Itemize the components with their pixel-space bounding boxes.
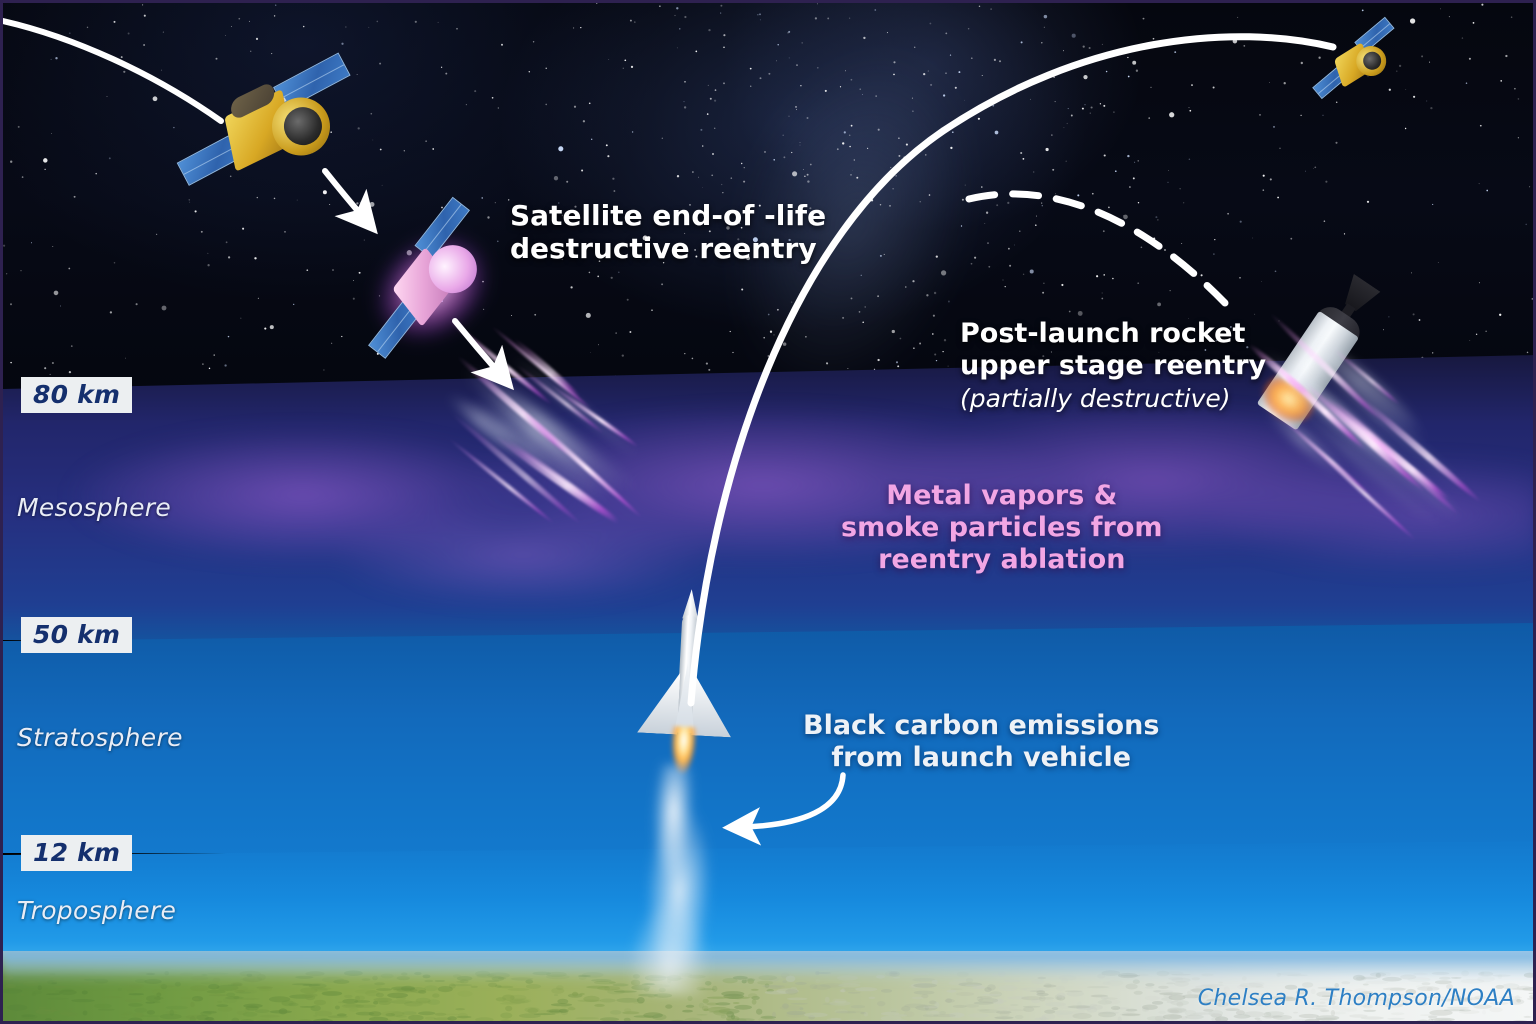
callout-metal-vapors: Metal vapors & smoke particles from reen… xyxy=(841,480,1163,576)
infographic-canvas: 80 km Mesosphere 50 km Stratosphere 12 k… xyxy=(0,0,1536,1024)
satellite-debris-streaks xyxy=(423,353,723,623)
upper-stage-debris-streaks xyxy=(1233,363,1533,593)
layer-troposphere xyxy=(3,841,1536,966)
altitude-marker-12km: 12 km xyxy=(21,835,132,871)
launch-vehicle xyxy=(655,614,720,745)
layer-label-stratosphere: Stratosphere xyxy=(17,723,183,752)
satellite-burning xyxy=(344,204,517,371)
horizon-haze xyxy=(3,951,1536,985)
altitude-marker-80km: 80 km xyxy=(21,377,132,413)
image-credit: Chelsea R. Thompson/NOAA xyxy=(1198,986,1515,1011)
callout-upper-stage: Post-launch rocket upper stage reentry (… xyxy=(960,286,1266,445)
exhaust-plume xyxy=(624,762,732,997)
callout-upper-stage-sub: (partially destructive) xyxy=(960,384,1266,414)
layer-label-troposphere: Troposphere xyxy=(17,896,176,925)
callout-black-carbon: Black carbon emissions from launch vehic… xyxy=(803,710,1159,774)
callout-upper-stage-main: Post-launch rocket upper stage reentry xyxy=(960,318,1266,381)
layer-label-mesosphere: Mesosphere xyxy=(17,493,171,522)
layer-stratosphere xyxy=(3,623,1536,853)
callout-satellite-reentry: Satellite end-of -life destructive reent… xyxy=(510,199,826,265)
altitude-marker-50km: 50 km xyxy=(21,617,132,653)
